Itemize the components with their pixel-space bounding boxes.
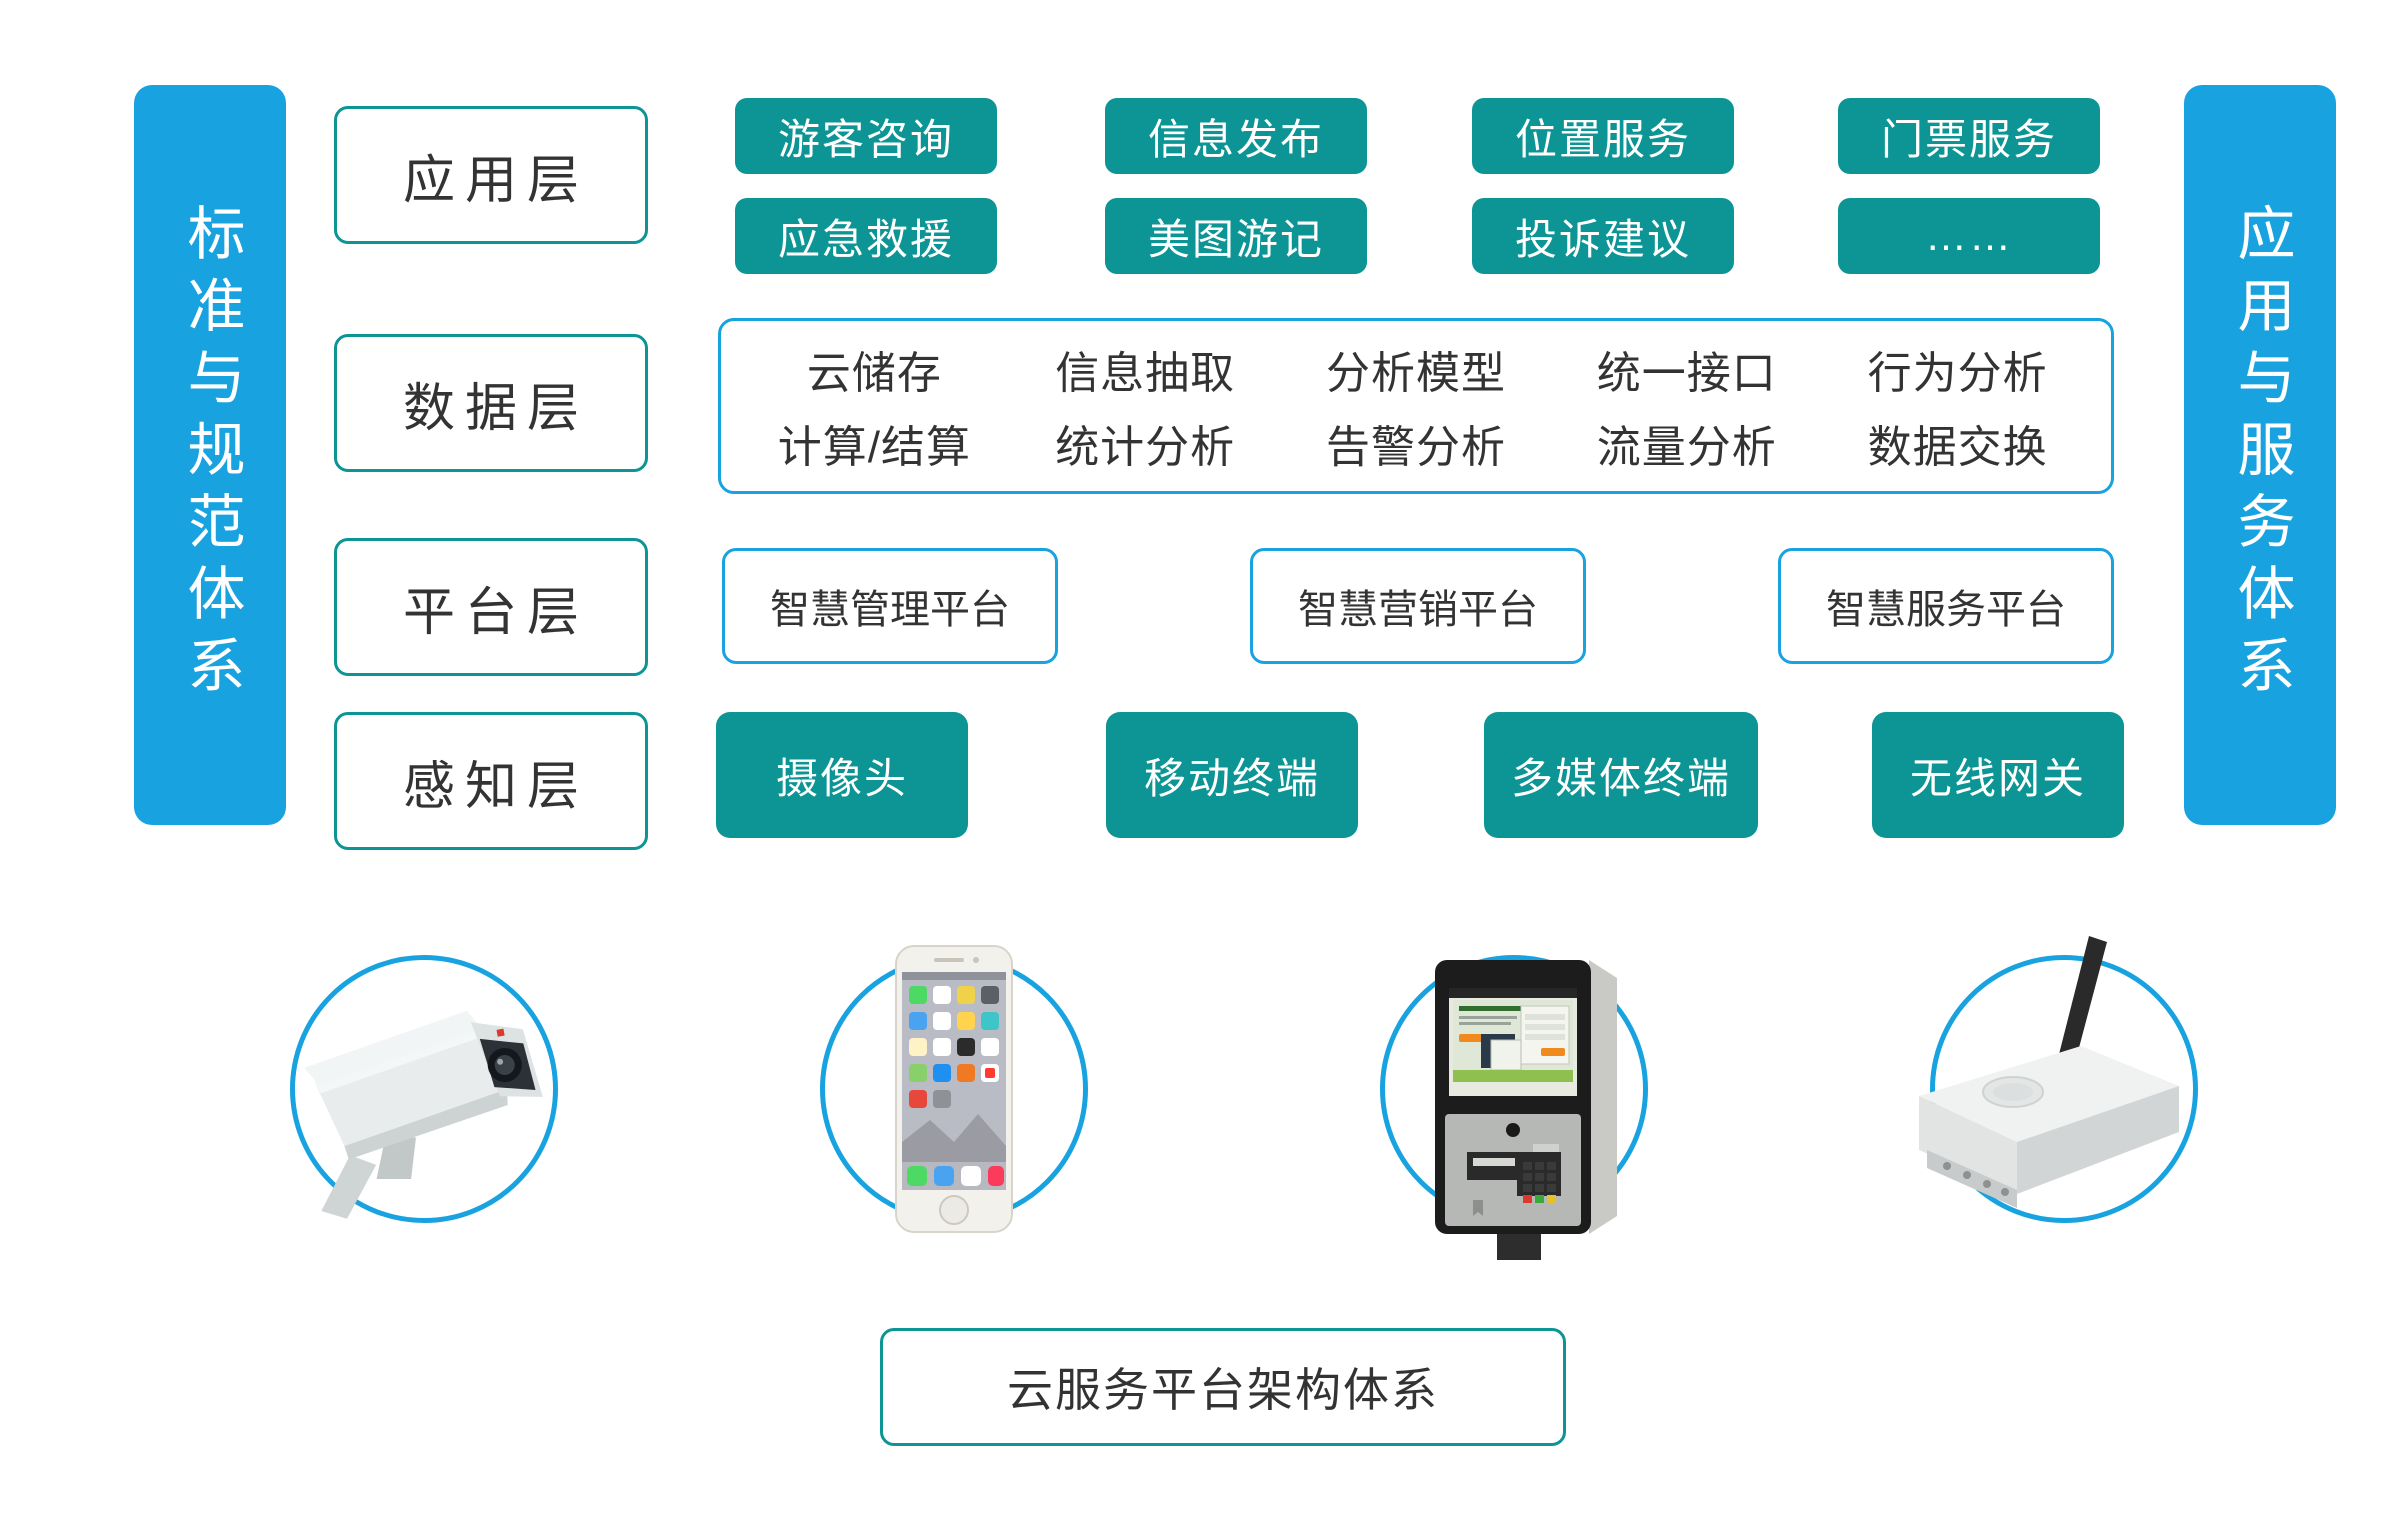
app-tag-label: 美图游记 — [1148, 206, 1324, 267]
perception-tag-label: 摄像头 — [776, 745, 908, 806]
wireless-router-icon — [1893, 918, 2235, 1260]
app-tag-ticket-service[interactable]: 门票服务 — [1838, 98, 2100, 174]
perception-tag-label: 多媒体终端 — [1511, 745, 1731, 806]
layer-label-application: 应用层 — [334, 106, 648, 244]
application-service-system-bar: 应用与服务体系 — [2184, 85, 2336, 825]
data-cell-behavior-analysis: 行为分析 — [1822, 337, 2093, 401]
kiosk-terminal-icon — [1343, 918, 1685, 1260]
layer-label-perception-text: 感知层 — [393, 744, 589, 819]
platform-box-smart-management[interactable]: 智慧管理平台 — [722, 548, 1058, 664]
device-circle-router — [1930, 955, 2198, 1223]
diagram-caption-text: 云服务平台架构体系 — [1007, 1354, 1439, 1420]
app-tag-photo-travel-notes[interactable]: 美图游记 — [1105, 198, 1367, 274]
layer-label-data-text: 数据层 — [393, 366, 589, 441]
app-tag-label: 应急救援 — [778, 206, 954, 267]
perception-tag-camera[interactable]: 摄像头 — [716, 712, 968, 838]
perception-tag-wireless-gateway[interactable]: 无线网关 — [1872, 712, 2124, 838]
data-cell-traffic-analysis: 流量分析 — [1551, 411, 1822, 475]
perception-tag-label: 无线网关 — [1910, 745, 2086, 806]
architecture-diagram: 标准与规范体系 应用与服务体系 应用层 数据层 平台层 感知层 游客咨询 信息发… — [0, 0, 2400, 1534]
platform-box-smart-marketing[interactable]: 智慧营销平台 — [1250, 548, 1586, 664]
app-tag-location-service[interactable]: 位置服务 — [1472, 98, 1734, 174]
app-tag-label: 投诉建议 — [1515, 206, 1691, 267]
perception-tag-mobile-terminal[interactable]: 移动终端 — [1106, 712, 1358, 838]
platform-box-smart-service[interactable]: 智慧服务平台 — [1778, 548, 2114, 664]
data-layer-row-2: 计算/结算 统计分析 告警分析 流量分析 数据交换 — [739, 406, 2093, 480]
smartphone-icon — [783, 918, 1125, 1260]
layer-label-platform-text: 平台层 — [393, 570, 589, 645]
app-tag-tourist-consultation[interactable]: 游客咨询 — [735, 98, 997, 174]
data-cell-information-extraction: 信息抽取 — [1010, 337, 1281, 401]
app-tag-label: 位置服务 — [1515, 106, 1691, 167]
app-tag-information-release[interactable]: 信息发布 — [1105, 98, 1367, 174]
layer-label-application-text: 应用层 — [393, 138, 589, 213]
data-cell-cloud-storage: 云储存 — [739, 337, 1010, 401]
device-circle-smartphone — [820, 955, 1088, 1223]
app-tag-label: 门票服务 — [1881, 106, 2057, 167]
data-layer-box: 云储存 信息抽取 分析模型 统一接口 行为分析 计算/结算 统计分析 告警分析 … — [718, 318, 2114, 494]
device-circle-camera — [290, 955, 558, 1223]
device-circle-kiosk — [1380, 955, 1648, 1223]
standards-system-bar: 标准与规范体系 — [134, 85, 286, 825]
app-tag-label: …… — [1925, 212, 2013, 260]
layer-label-platform: 平台层 — [334, 538, 648, 676]
diagram-caption: 云服务平台架构体系 — [880, 1328, 1566, 1446]
app-tag-more-ellipsis[interactable]: …… — [1838, 198, 2100, 274]
standards-system-label: 标准与规范体系 — [180, 203, 241, 707]
app-tag-label: 游客咨询 — [778, 106, 954, 167]
data-cell-analysis-model: 分析模型 — [1281, 337, 1552, 401]
application-service-system-label: 应用与服务体系 — [2230, 203, 2291, 707]
cctv-camera-icon — [253, 918, 595, 1260]
perception-tag-multimedia-terminal[interactable]: 多媒体终端 — [1484, 712, 1758, 838]
data-cell-unified-interface: 统一接口 — [1551, 337, 1822, 401]
data-cell-alarm-analysis: 告警分析 — [1281, 411, 1552, 475]
platform-box-label: 智慧服务平台 — [1826, 577, 2066, 635]
app-tag-emergency-rescue[interactable]: 应急救援 — [735, 198, 997, 274]
data-cell-compute-settlement: 计算/结算 — [739, 411, 1010, 475]
app-tag-complaint-suggestion[interactable]: 投诉建议 — [1472, 198, 1734, 274]
platform-box-label: 智慧营销平台 — [1298, 577, 1538, 635]
data-layer-row-1: 云储存 信息抽取 分析模型 统一接口 行为分析 — [739, 332, 2093, 406]
layer-label-data: 数据层 — [334, 334, 648, 472]
data-cell-statistical-analysis: 统计分析 — [1010, 411, 1281, 475]
perception-tag-label: 移动终端 — [1144, 745, 1320, 806]
layer-label-perception: 感知层 — [334, 712, 648, 850]
data-cell-data-exchange: 数据交换 — [1822, 411, 2093, 475]
app-tag-label: 信息发布 — [1148, 106, 1324, 167]
platform-box-label: 智慧管理平台 — [770, 577, 1010, 635]
